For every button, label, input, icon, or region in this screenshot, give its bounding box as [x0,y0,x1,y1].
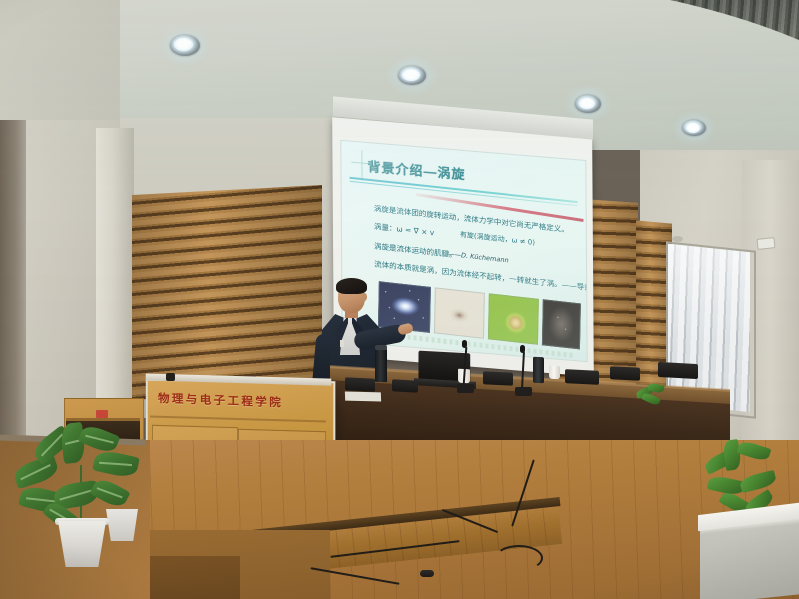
paper-sheet [345,392,381,402]
title-cross-vertical-icon [361,151,362,181]
slide-image-snail-shell [488,293,539,344]
ear [362,293,367,301]
delegate-unit-1 [345,377,375,392]
wooden-slat-wall-left [132,185,322,400]
delegate-unit-3 [483,371,513,386]
palm-leaf [737,439,772,462]
slide-body-citation: ——D. Küchemann [448,250,509,265]
plant-pot [58,521,106,567]
lecture-hall-photo: 背景介绍—涡旋 涡旋是流体团的旋转运动，流体力学中对它尚无严格定义。 涡量：ω … [0,0,799,599]
floor-cable-loop [495,545,543,571]
thermos-flask-2 [533,357,544,384]
floor-cable-connector [420,570,434,577]
delegate-unit-4 [565,369,599,385]
hair [336,278,367,294]
structural-pillar [96,128,134,428]
slide-body-line-3: 涡旋是流体运动的肌腱。 [374,240,457,260]
plant-leaf [78,423,121,456]
lectern-mug [166,373,175,381]
slide-image-hurricane [434,287,485,338]
slide-body-line-2: 涡量：ω = ∇ × v [374,221,435,239]
plant-leaf [92,449,140,480]
plant-leaf [12,455,61,490]
thermos-cap [375,345,387,350]
palm-leaf [739,470,778,493]
delegate-unit-5 [610,366,640,381]
potted-plant-left [10,405,150,585]
plant-leaf [89,476,130,511]
emergency-light-icon [756,237,775,250]
delegate-unit-6 [658,362,698,379]
slat-shading-left [132,185,322,400]
thermos-flask [375,348,387,382]
paper-cup-2 [549,366,560,380]
small-plant-leaf [641,391,661,406]
delegate-unit-2 [392,379,418,392]
name-badge [340,340,344,347]
left-wall-edge [0,120,26,450]
slide-body-line-2b: 有旋(涡旋运动，ω ≠ 0) [460,230,535,248]
smoke-detector-icon [672,236,683,242]
slide-title: 背景介绍—涡旋 [367,156,465,183]
slide-image-dark-oval [542,299,581,349]
plant-pot-secondary [106,509,138,541]
small-plant-on-table [636,382,666,408]
